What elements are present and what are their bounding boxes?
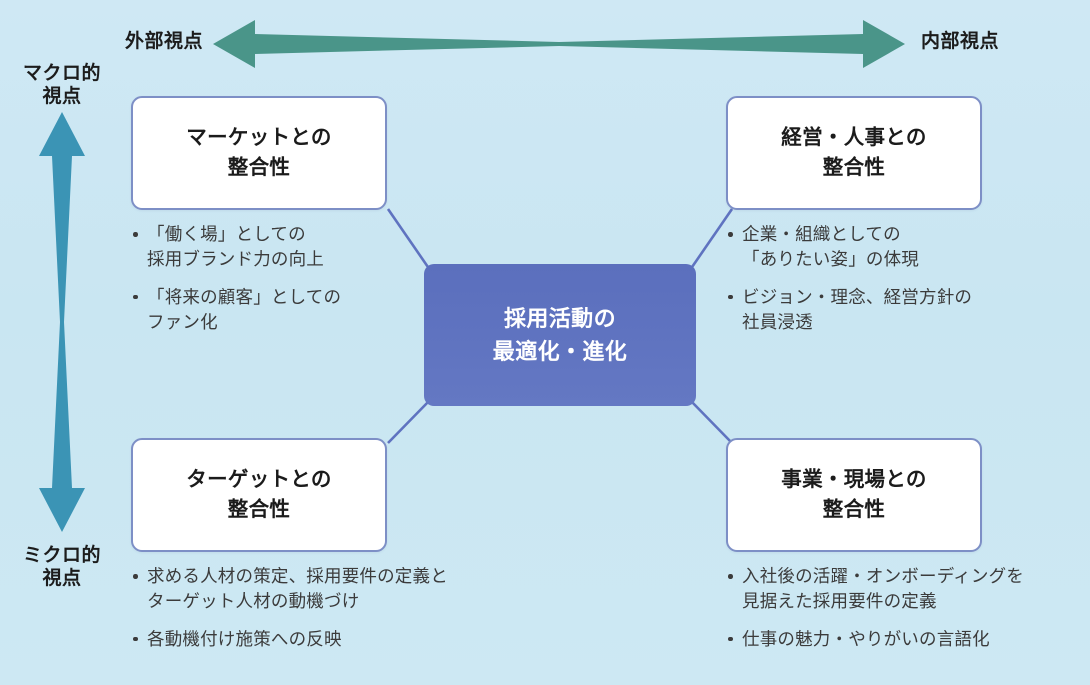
node-box-business-field[interactable]: 事業・現場との 整合性 [726, 438, 982, 552]
axis-label-micro-view: ミクロ的 視点 [6, 544, 118, 590]
list-item: 入社後の活躍・オンボーディングを 見据えた採用要件の定義 [726, 564, 1086, 614]
node-title-target: ターゲットとの 整合性 [186, 465, 331, 524]
vertical-double-arrow-icon [34, 112, 90, 532]
list-item: 求める人材の策定、採用要件の定義と ターゲット人材の動機づけ [131, 564, 551, 614]
node-group-management-hr: 経営・人事との 整合性 企業・組織としての 「ありたい姿」の体現 ビジョン・理念… [726, 96, 1026, 334]
node-box-target[interactable]: ターゲットとの 整合性 [131, 438, 387, 552]
center-node-recruitment-optimization[interactable]: 採用活動の 最適化・進化 [424, 264, 696, 406]
bullet-list-management-hr: 企業・組織としての 「ありたい姿」の体現 ビジョン・理念、経営方針の 社員浸透 [726, 222, 1026, 334]
connector-center-to-target [388, 400, 430, 443]
node-box-market[interactable]: マーケットとの 整合性 [131, 96, 387, 210]
bullet-list-business-field: 入社後の活躍・オンボーディングを 見据えた採用要件の定義 仕事の魅力・やりがいの… [726, 564, 1086, 652]
connector-center-to-business [690, 400, 732, 443]
node-box-management-hr[interactable]: 経営・人事との 整合性 [726, 96, 982, 210]
axis-label-external-view: 外部視点 [104, 30, 224, 53]
bullet-list-market: 「働く場」としての 採用ブランド力の向上 「将来の顧客」としての ファン化 [131, 222, 431, 334]
list-item: ビジョン・理念、経営方針の 社員浸透 [726, 285, 1026, 335]
center-node-title: 採用活動の 最適化・進化 [493, 302, 627, 368]
list-item: 「将来の顧客」としての ファン化 [131, 285, 431, 335]
node-group-market: マーケットとの 整合性 「働く場」としての 採用ブランド力の向上 「将来の顧客」… [131, 96, 431, 334]
node-group-business-field: 事業・現場との 整合性 入社後の活躍・オンボーディングを 見据えた採用要件の定義… [726, 438, 1086, 652]
list-item: 各動機付け施策への反映 [131, 627, 551, 652]
node-group-target: ターゲットとの 整合性 求める人材の策定、採用要件の定義と ターゲット人材の動機… [131, 438, 551, 652]
axis-label-macro-view: マクロ的 視点 [6, 62, 118, 108]
node-title-management-hr: 経営・人事との 整合性 [781, 123, 926, 182]
list-item: 企業・組織としての 「ありたい姿」の体現 [726, 222, 1026, 272]
horizontal-double-arrow-icon [213, 16, 905, 72]
list-item: 仕事の魅力・やりがいの言語化 [726, 627, 1086, 652]
diagram-canvas: 外部視点 内部視点 マクロ的 視点 ミクロ的 視点 採用活動の 最適化・進化 マ… [0, 0, 1090, 685]
node-title-business-field: 事業・現場との 整合性 [781, 465, 926, 524]
axis-label-internal-view: 内部視点 [900, 30, 1020, 53]
list-item: 「働く場」としての 採用ブランド力の向上 [131, 222, 431, 272]
bullet-list-target: 求める人材の策定、採用要件の定義と ターゲット人材の動機づけ 各動機付け施策への… [131, 564, 551, 652]
node-title-market: マーケットとの 整合性 [186, 123, 331, 182]
